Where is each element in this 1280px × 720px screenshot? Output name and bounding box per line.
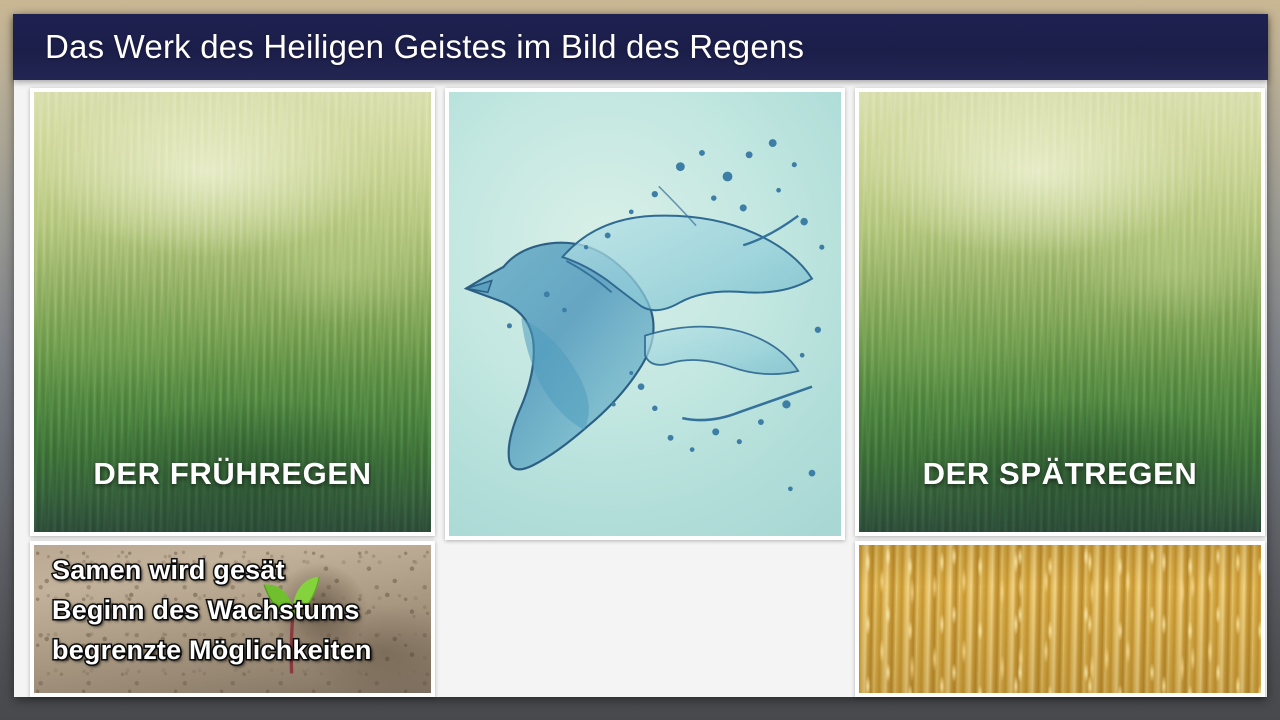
panel-fruehregen-caption: DER FRÜHREGEN — [34, 456, 431, 492]
panel-spaetregen-caption: DER SPÄTREGEN — [859, 456, 1261, 492]
seedling-caption-line-3: begrenzte Möglichkeiten — [52, 635, 421, 667]
ripe-wheat-field-photo — [859, 545, 1261, 693]
panel-wheat-image-frame — [859, 545, 1261, 693]
panel-water-dove-image-frame — [449, 92, 841, 536]
panel-seedling-text[interactable]: Samen wird gesät Beginn des Wachstums be… — [30, 541, 435, 697]
panel-water-dove[interactable] — [445, 88, 845, 540]
seedling-caption-line-2: Beginn des Wachstums — [52, 595, 421, 627]
panel-spaetregen[interactable]: DER SPÄTREGEN — [855, 88, 1265, 536]
seedling-caption-line-1: Samen wird gesät — [52, 555, 421, 587]
seedling-caption-list: Samen wird gesät Beginn des Wachstums be… — [52, 555, 421, 667]
panel-spaetregen-image-frame: DER SPÄTREGEN — [859, 92, 1261, 532]
panel-seedling-image-frame: Samen wird gesät Beginn des Wachstums be… — [34, 545, 431, 693]
panel-fruehregen-image-frame: DER FRÜHREGEN — [34, 92, 431, 532]
slide-title-bar: Das Werk des Heiligen Geistes im Bild de… — [13, 14, 1268, 80]
water-splash-dove-icon — [449, 92, 841, 536]
page-title: Das Werk des Heiligen Geistes im Bild de… — [13, 28, 804, 66]
panel-fruehregen[interactable]: DER FRÜHREGEN — [30, 88, 435, 536]
panel-wheat[interactable] — [855, 541, 1265, 697]
